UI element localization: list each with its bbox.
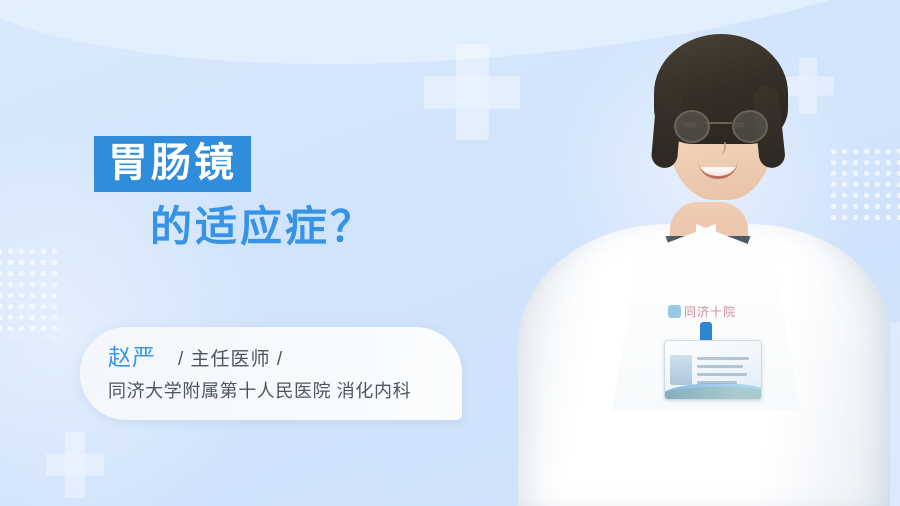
- headline-highlight-box: 胃肠镜: [94, 136, 251, 192]
- id-badge: [664, 340, 762, 400]
- badge-text-line: [697, 373, 747, 376]
- doctor-title: / 主任医师 /: [178, 344, 283, 371]
- lens-left: [674, 110, 710, 143]
- coat-embroidered-logo: 同济十院: [668, 303, 736, 320]
- doctor-portrait: 同济十院: [500, 0, 900, 506]
- glasses-bridge: [706, 122, 732, 124]
- doctor-name-row: 赵严 / 主任医师 /: [108, 338, 283, 372]
- hospital-mark-icon: [668, 305, 681, 318]
- health-video-cover: 同济十院 胃肠镜: [0, 0, 900, 506]
- doctor-head: [650, 34, 792, 212]
- doctor-name: 赵严: [108, 338, 156, 372]
- badge-text-line: [697, 357, 749, 360]
- dot-grid-left: [0, 246, 60, 338]
- lens-right: [732, 110, 768, 143]
- coat-logo-text: 同济十院: [684, 305, 736, 319]
- headline: 胃肠镜 的适应症？: [94, 136, 375, 248]
- medical-cross-icon: [46, 432, 104, 498]
- glasses-icon: [666, 110, 776, 140]
- badge-photo: [670, 355, 692, 385]
- doctor-organization: 同济大学附属第十人民医院 消化内科: [108, 377, 411, 403]
- nose: [714, 142, 726, 154]
- badge-text-line: [697, 365, 743, 368]
- badge-blue-swoosh: [664, 383, 762, 400]
- doctor-info-card: 赵严 / 主任医师 / 同济大学附属第十人民医院 消化内科: [80, 327, 462, 420]
- headline-subtitle: 的适应症？: [150, 206, 375, 248]
